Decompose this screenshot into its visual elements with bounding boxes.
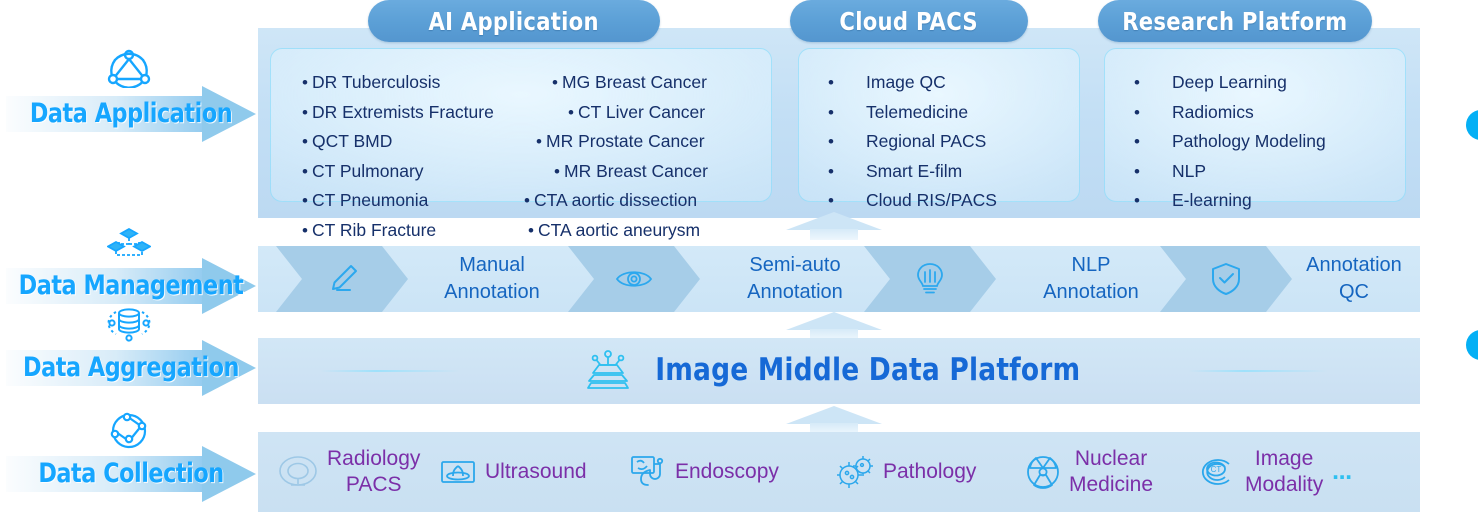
ultrasound-probe-icon (440, 457, 476, 487)
chevron-label-line1: NLP (996, 252, 1186, 279)
research-platform-bullets: •Deep Learning •Radiomics •Pathology Mod… (1124, 68, 1326, 216)
platform-title-group: Image Middle Data Platform (258, 349, 1420, 391)
pill-label: AI Application (429, 7, 599, 36)
bullet-dot: • (548, 69, 562, 98)
modality-label-line2: PACS (346, 473, 402, 496)
ct-scan-icon: CT (1196, 456, 1236, 488)
chevron-label-line1: Manual (408, 252, 576, 279)
bullet-text: Regional PACS (838, 127, 986, 156)
modality-image-modality[interactable]: CT Image Modality ⋯ (1196, 432, 1353, 512)
edge-circle-upper[interactable] (1466, 110, 1478, 140)
endoscope-icon (630, 455, 666, 489)
bullet-text: MR Breast Cancer (564, 157, 708, 186)
bullet-text: CTA aortic dissection (534, 186, 697, 215)
chevron-label-line2: QC (1292, 279, 1416, 306)
radioactive-icon (1026, 455, 1060, 489)
chevron-label-manual-annotation: Manual Annotation (408, 252, 576, 306)
connector-up-arrow-to-aggregation (786, 406, 882, 434)
rail-label: Data Application (16, 98, 246, 129)
modality-label: Image Modality (1245, 446, 1323, 498)
connector-up-arrow-to-application (786, 212, 882, 240)
management-band: Manual Annotation Semi-auto Annotation N… (258, 246, 1420, 312)
rail-label: Data Collection (16, 458, 246, 489)
rail-label: Data Management (16, 270, 246, 301)
bullet-dot: • (298, 128, 312, 157)
bullet-text: QCT BMD (312, 127, 392, 156)
modality-label-line1: Radiology (327, 447, 420, 470)
chevron-label-line2: Annotation (700, 279, 890, 306)
bullet-dot: • (520, 187, 534, 216)
bullet-dot: • (564, 99, 578, 128)
modality-label-line1: Image (1255, 447, 1313, 470)
modality-label: Nuclear Medicine (1069, 446, 1153, 498)
bullet-text: CT Liver Cancer (578, 98, 705, 127)
bullet-text: E-learning (1144, 186, 1252, 215)
bullet-text: Smart E-film (838, 157, 962, 186)
platform-layers-icon (586, 349, 630, 391)
bullet-dot: • (524, 217, 538, 246)
modality-endoscopy[interactable]: Endoscopy (630, 432, 779, 512)
bullet-dot: • (532, 128, 546, 157)
bullet-text: NLP (1144, 157, 1206, 186)
bullet-text: Image QC (838, 68, 946, 97)
bullet-text: DR Tuberculosis (312, 68, 440, 97)
bullet-dot: • (550, 158, 564, 187)
bullet-text: CT Pulmonary (312, 157, 424, 186)
modality-label: Pathology (883, 459, 976, 485)
network-triangle-icon (0, 48, 258, 88)
nodes-circle-icon (0, 412, 258, 450)
pill-ai-application[interactable]: AI Application (368, 0, 660, 42)
shield-check-icon (1160, 246, 1292, 312)
modality-label: Radiology PACS (327, 446, 420, 498)
edge-circle-lower[interactable] (1466, 330, 1478, 360)
aggregation-band: Image Middle Data Platform (258, 338, 1420, 404)
microbe-icon (836, 455, 874, 489)
bullet-text: Cloud RIS/PACS (838, 186, 997, 215)
application-band: •DR Tuberculosis •DR Extremists Fracture… (258, 28, 1420, 218)
bullet-text: MR Prostate Cancer (546, 127, 705, 156)
rail-label: Data Aggregation (16, 352, 246, 383)
chevron-label-line2: Annotation (996, 279, 1186, 306)
bullet-dot: • (824, 69, 838, 98)
chevron-label-line2: Annotation (408, 279, 576, 306)
ai-application-bullets-col2: •MG Breast Cancer •CT Liver Cancer •MR P… (510, 68, 738, 245)
platform-title: Image Middle Data Platform (655, 352, 1080, 388)
chevron-label-nlp-annotation: NLP Annotation (996, 252, 1186, 306)
bullet-dot: • (1130, 187, 1144, 216)
modality-label-line1: Nuclear (1075, 447, 1147, 470)
modality-pathology[interactable]: Pathology (836, 432, 976, 512)
bullet-dot: • (1130, 158, 1144, 187)
cubes-stack-icon (0, 228, 258, 262)
rail-arrow-data-application: Data Application (6, 86, 256, 142)
bullet-text: CTA aortic aneurysm (538, 216, 700, 245)
modality-label-line2: Medicine (1069, 473, 1153, 496)
modality-nuclear-medicine[interactable]: Nuclear Medicine (1026, 432, 1153, 512)
bullet-dot: • (298, 187, 312, 216)
bullet-dot: • (1130, 128, 1144, 157)
pencil-icon (276, 246, 408, 312)
connector-up-arrow-to-management (786, 312, 882, 340)
ai-application-bullets-col1: •DR Tuberculosis •DR Extremists Fracture… (298, 68, 494, 245)
cloud-pacs-bullets: •Image QC •Telemedicine •Regional PACS •… (818, 68, 997, 216)
pill-label: Research Platform (1122, 7, 1347, 36)
bullet-dot: • (1130, 99, 1144, 128)
svg-text:CT: CT (1211, 465, 1222, 474)
rail-arrow-data-aggregation: Data Aggregation (6, 340, 256, 396)
bullet-dot: • (298, 158, 312, 187)
bullet-text: Telemedicine (838, 98, 968, 127)
modality-label: Endoscopy (675, 459, 779, 485)
pill-cloud-pacs[interactable]: Cloud PACS (790, 0, 1028, 42)
bullet-text: Radiomics (1144, 98, 1254, 127)
diagram-canvas: Data Application Data Management (0, 0, 1478, 518)
bullet-dot: • (298, 69, 312, 98)
bullet-dot: • (298, 99, 312, 128)
bullet-text: Deep Learning (1144, 68, 1287, 97)
bullet-text: CT Rib Fracture (312, 216, 436, 245)
bullet-dot: • (824, 128, 838, 157)
database-orbit-icon (0, 304, 258, 342)
bullet-dot: • (824, 158, 838, 187)
bullet-dot: • (824, 99, 838, 128)
modality-label: Ultrasound (485, 459, 587, 485)
rail-arrow-data-collection: Data Collection (6, 446, 256, 502)
chevron-label-semi-auto-annotation: Semi-auto Annotation (700, 252, 890, 306)
eye-icon (568, 246, 700, 312)
radiology-scanner-icon (278, 454, 318, 490)
chevron-label-line1: Annotation (1292, 252, 1416, 279)
chevron-label-annotation-qc: Annotation QC (1292, 252, 1416, 306)
bullet-dot: • (1130, 69, 1144, 98)
pill-label: Cloud PACS (840, 7, 979, 36)
modality-radiology-pacs[interactable]: Radiology PACS (278, 432, 420, 512)
pill-research-platform[interactable]: Research Platform (1098, 0, 1372, 42)
bullet-dot: • (298, 217, 312, 246)
trailing-ellipsis: ⋯ (1332, 465, 1353, 490)
bullet-text: MG Breast Cancer (562, 68, 707, 97)
chevron-label-line1: Semi-auto (700, 252, 890, 279)
modality-ultrasound[interactable]: Ultrasound (440, 432, 587, 512)
modality-label-line2: Modality (1245, 473, 1323, 496)
bullet-text: Pathology Modeling (1144, 127, 1326, 156)
bullet-text: CT Pneumonia (312, 186, 428, 215)
bulb-icon (864, 246, 996, 312)
bullet-text: DR Extremists Fracture (312, 98, 494, 127)
collection-band: Radiology PACS Ultrasound (258, 432, 1420, 512)
